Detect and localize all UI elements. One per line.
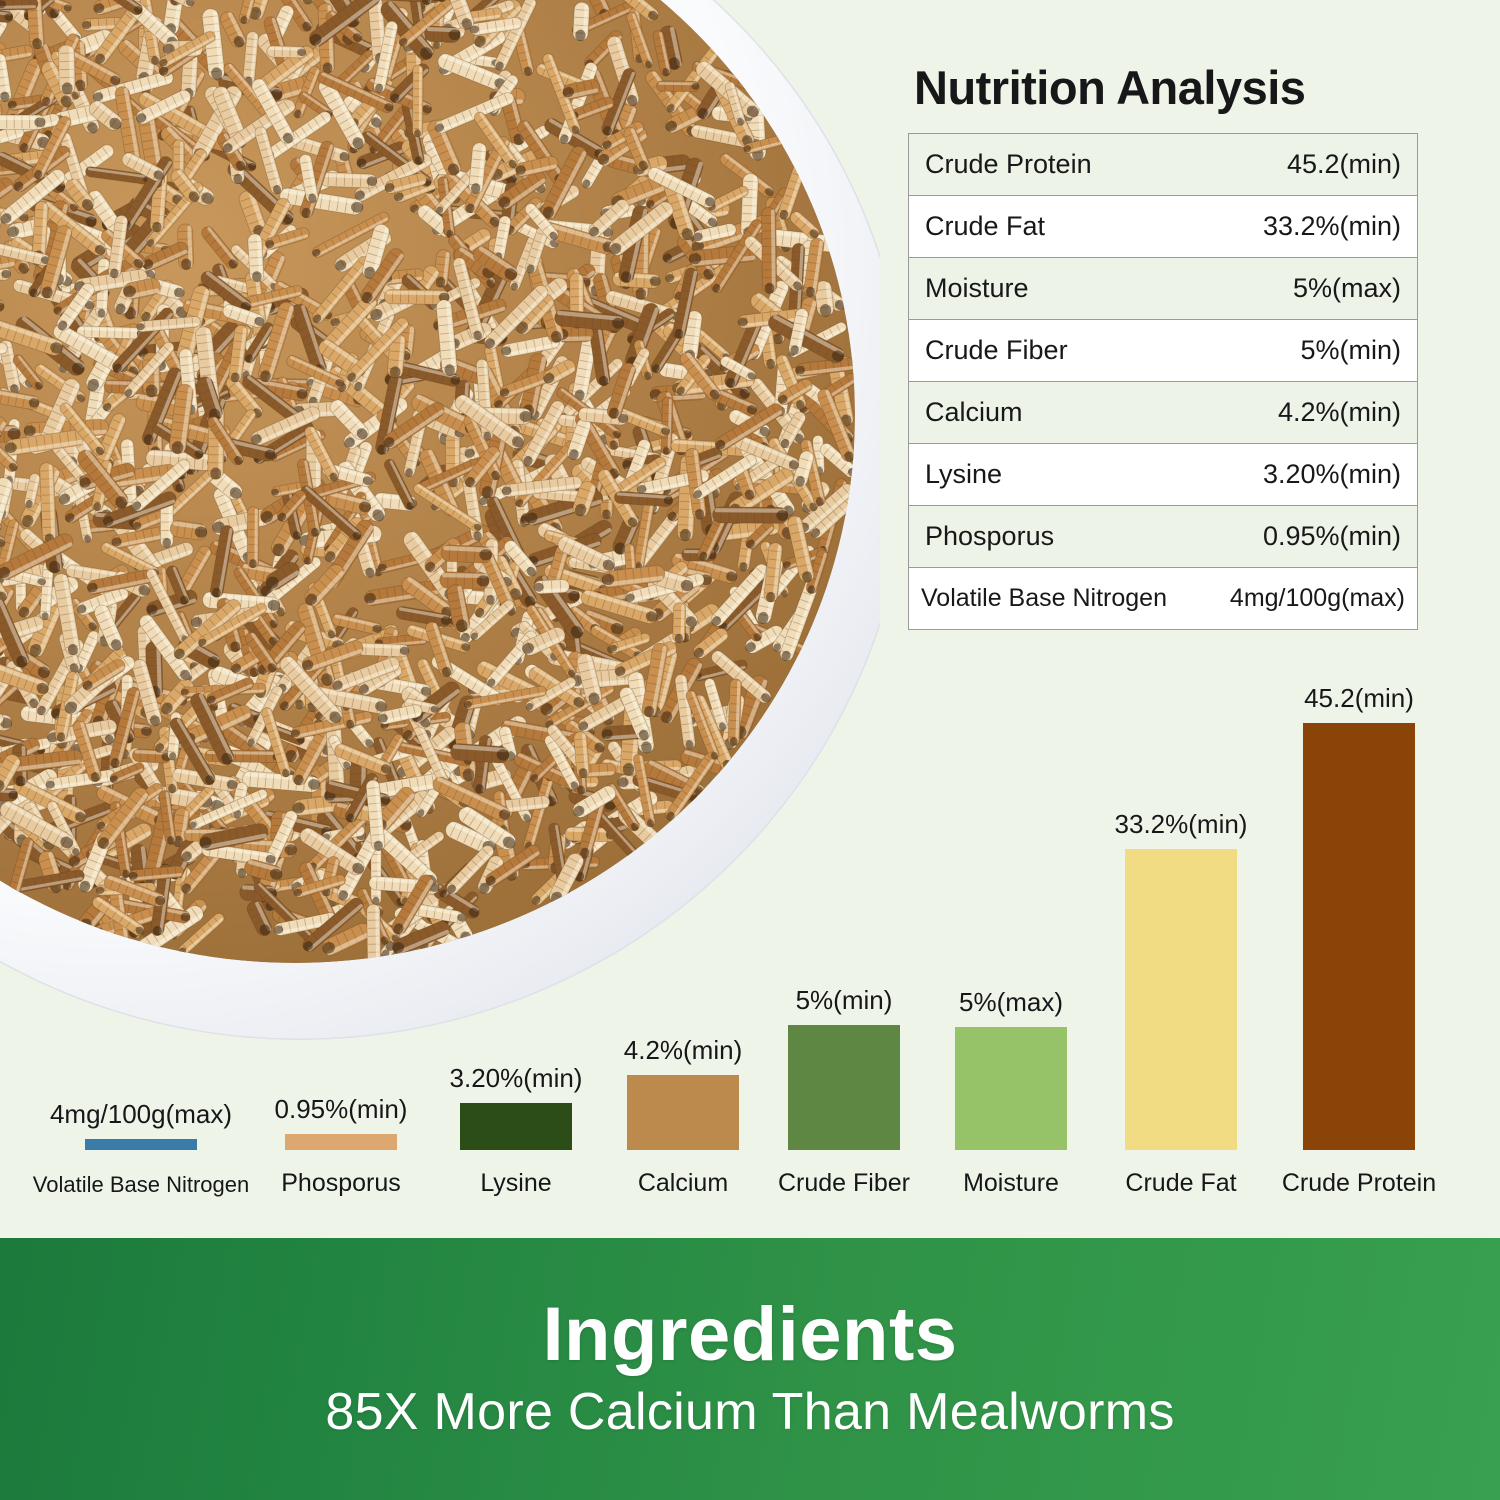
table-row: Crude Fiber 5%(min) [909,320,1418,382]
nutrient-label: Lysine [909,444,1164,506]
bar-group: 4.2%(min)Calcium [627,660,739,1220]
bar-value-label: 45.2(min) [1304,683,1414,714]
nutrient-value: 5%(min) [1163,320,1418,382]
nutrient-value: 5%(max) [1163,258,1418,320]
nutrient-label: Moisture [909,258,1164,320]
table-row: Phosporus 0.95%(min) [909,506,1418,568]
bar-value-label: 4mg/100g(max) [50,1099,232,1130]
nutrient-label: Volatile Base Nitrogen [909,568,1164,630]
bar-group: 5%(min)Crude Fiber [788,660,900,1220]
bar-value-label: 5%(min) [796,985,893,1016]
bar [955,1027,1067,1150]
nutrition-title: Nutrition Analysis [914,60,1422,115]
bar [285,1134,397,1150]
nutrition-table: Crude Protein 45.2(min) Crude Fat 33.2%(… [908,133,1418,630]
table-row: Lysine 3.20%(min) [909,444,1418,506]
bar-group: 5%(max)Moisture [955,660,1067,1220]
nutrient-label: Phosporus [909,506,1164,568]
bar-value-label: 33.2%(min) [1115,809,1248,840]
bar-category-label: Moisture [963,1169,1059,1198]
bar-value-label: 5%(max) [959,987,1063,1018]
nutrient-value: 4.2%(min) [1163,382,1418,444]
nutrition-analysis-panel: Nutrition Analysis Crude Protein 45.2(mi… [908,60,1422,630]
bar-category-label: Lysine [480,1169,551,1198]
bar-group: 33.2%(min)Crude Fat [1125,660,1237,1220]
bar-group: 3.20%(min)Lysine [460,660,572,1220]
nutrition-bar-chart: 4mg/100g(max)Volatile Base Nitrogen0.95%… [0,660,1500,1220]
nutrient-label: Calcium [909,382,1164,444]
banner-subtitle: 85X More Calcium Than Mealworms [325,1382,1174,1442]
nutrient-value: 0.95%(min) [1163,506,1418,568]
bar-group: 4mg/100g(max)Volatile Base Nitrogen [85,660,197,1220]
bar-category-label: Crude Fiber [778,1169,910,1198]
bar-category-label: Crude Fat [1125,1169,1236,1198]
nutrient-value: 3.20%(min) [1163,444,1418,506]
ingredients-banner: Ingredients 85X More Calcium Than Mealwo… [0,1238,1500,1500]
table-row: Crude Protein 45.2(min) [909,134,1418,196]
bar-group: 45.2(min)Crude Protein [1303,660,1415,1220]
table-row: Calcium 4.2%(min) [909,382,1418,444]
nutrient-value: 4mg/100g(max) [1163,568,1418,630]
nutrient-label: Crude Fat [909,196,1164,258]
bar-category-label: Calcium [638,1169,728,1198]
bar-category-label: Crude Protein [1282,1169,1436,1198]
bar-value-label: 4.2%(min) [624,1035,742,1066]
bar-category-label: Volatile Base Nitrogen [33,1172,249,1198]
bar [460,1103,572,1150]
bar-value-label: 3.20%(min) [450,1063,583,1094]
table-row: Crude Fat 33.2%(min) [909,196,1418,258]
bar [1125,849,1237,1150]
bar [85,1139,197,1150]
nutrient-label: Crude Fiber [909,320,1164,382]
table-row: Volatile Base Nitrogen 4mg/100g(max) [909,568,1418,630]
bar [627,1075,739,1150]
bar [1303,723,1415,1150]
banner-title: Ingredients [542,1296,957,1374]
nutrient-value: 45.2(min) [1163,134,1418,196]
bar [788,1025,900,1150]
bar-value-label: 0.95%(min) [275,1094,408,1125]
nutrient-label: Crude Protein [909,134,1164,196]
bar-category-label: Phosporus [281,1169,401,1198]
bar-group: 0.95%(min)Phosporus [285,660,397,1220]
table-row: Moisture 5%(max) [909,258,1418,320]
nutrient-value: 33.2%(min) [1163,196,1418,258]
